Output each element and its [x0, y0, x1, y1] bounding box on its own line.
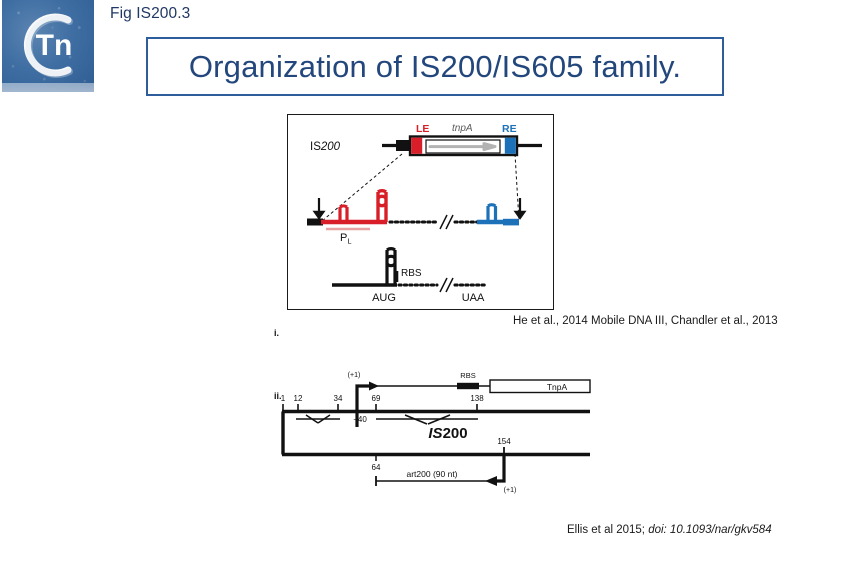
- promoter-label: PL: [340, 232, 352, 246]
- coord-label-12: 12: [294, 394, 303, 403]
- figure-1-caption: He et al., 2014 Mobile DNA III, Chandler…: [513, 315, 778, 327]
- ctn-logo-tn-text: Tn: [36, 29, 73, 62]
- coord-label-minus40: −40: [353, 415, 367, 424]
- aug-label: AUG: [372, 292, 396, 304]
- le-hairpin-large: [378, 191, 386, 222]
- re-blue-block: [505, 138, 516, 154]
- figure-1-svg: IS200 LE tnpA RE: [274, 114, 554, 310]
- re-hairpin: [488, 205, 496, 222]
- coord-label-64: 64: [372, 463, 381, 472]
- coord-label-1: 1: [281, 394, 286, 403]
- coding-break-slash-2: [446, 278, 453, 292]
- row-label-i: i.: [274, 328, 279, 338]
- le-red-block: [411, 138, 422, 154]
- tss-plus1-top: (+1): [348, 372, 361, 379]
- rbs-block: [457, 383, 479, 389]
- cleavage-arrow-left: [315, 198, 324, 218]
- figure-2-caption-prefix: Ellis et al 2015;: [567, 524, 648, 536]
- cleavage-arrow-right: [516, 198, 525, 218]
- is200-element-label: IS200: [310, 141, 341, 153]
- figure-number-label: Fig IS200.3: [110, 5, 190, 23]
- tss-plus1-bottom: (+1): [504, 487, 517, 494]
- figure-2-caption-doi: doi: 10.1093/nar/gkv584: [648, 524, 771, 536]
- logo-bottom-sheen: [2, 83, 94, 92]
- coding-break-slash-1: [440, 278, 447, 292]
- guide-line-left: [322, 154, 402, 221]
- art200-label: art200 (90 nt): [406, 469, 457, 479]
- tnpa-orf-label: TnpA: [547, 382, 568, 392]
- slide-title-box: Organization of IS200/IS605 family.: [146, 37, 724, 96]
- coord-label-34: 34: [334, 394, 343, 403]
- re-terminal-block: [503, 219, 519, 226]
- ctn-logo-glyph: Tn: [2, 0, 94, 92]
- coord-label-154: 154: [497, 437, 511, 446]
- figure-2-caption: Ellis et al 2015; doi: 10.1093/nar/gkv58…: [567, 524, 772, 536]
- is200-element-name: IS200: [428, 425, 467, 442]
- tnpa-orf-rect: [490, 380, 590, 393]
- figure-2-svg: RBS TnpA (+1) 1 12 34 −40 69 138 IS200: [272, 366, 592, 494]
- transcript-left-block: [307, 219, 323, 226]
- le-label: LE: [416, 123, 429, 135]
- transcript-break-slash-1: [440, 215, 447, 229]
- coord-label-69: 69: [372, 394, 381, 403]
- re-label: RE: [502, 123, 517, 135]
- left-flank-block: [396, 140, 410, 151]
- le-hairpin-small: [340, 206, 347, 222]
- tnpa-label: tnpA: [452, 123, 473, 134]
- figure-1-container: i. ii. IS200 LE tnpA RE: [274, 114, 554, 310]
- rbs-label: RBS: [401, 268, 422, 279]
- coord-label-138: 138: [470, 394, 484, 403]
- transcript-break-slash-2: [446, 215, 453, 229]
- uaa-label: UAA: [462, 292, 485, 304]
- rbs-label-fig2: RBS: [460, 371, 475, 380]
- ctn-logo: Tn: [2, 0, 94, 92]
- mrna-hairpin: [387, 249, 395, 285]
- page-title: Organization of IS200/IS605 family.: [189, 49, 681, 85]
- figure-2-container: RBS TnpA (+1) 1 12 34 −40 69 138 IS200: [272, 366, 592, 494]
